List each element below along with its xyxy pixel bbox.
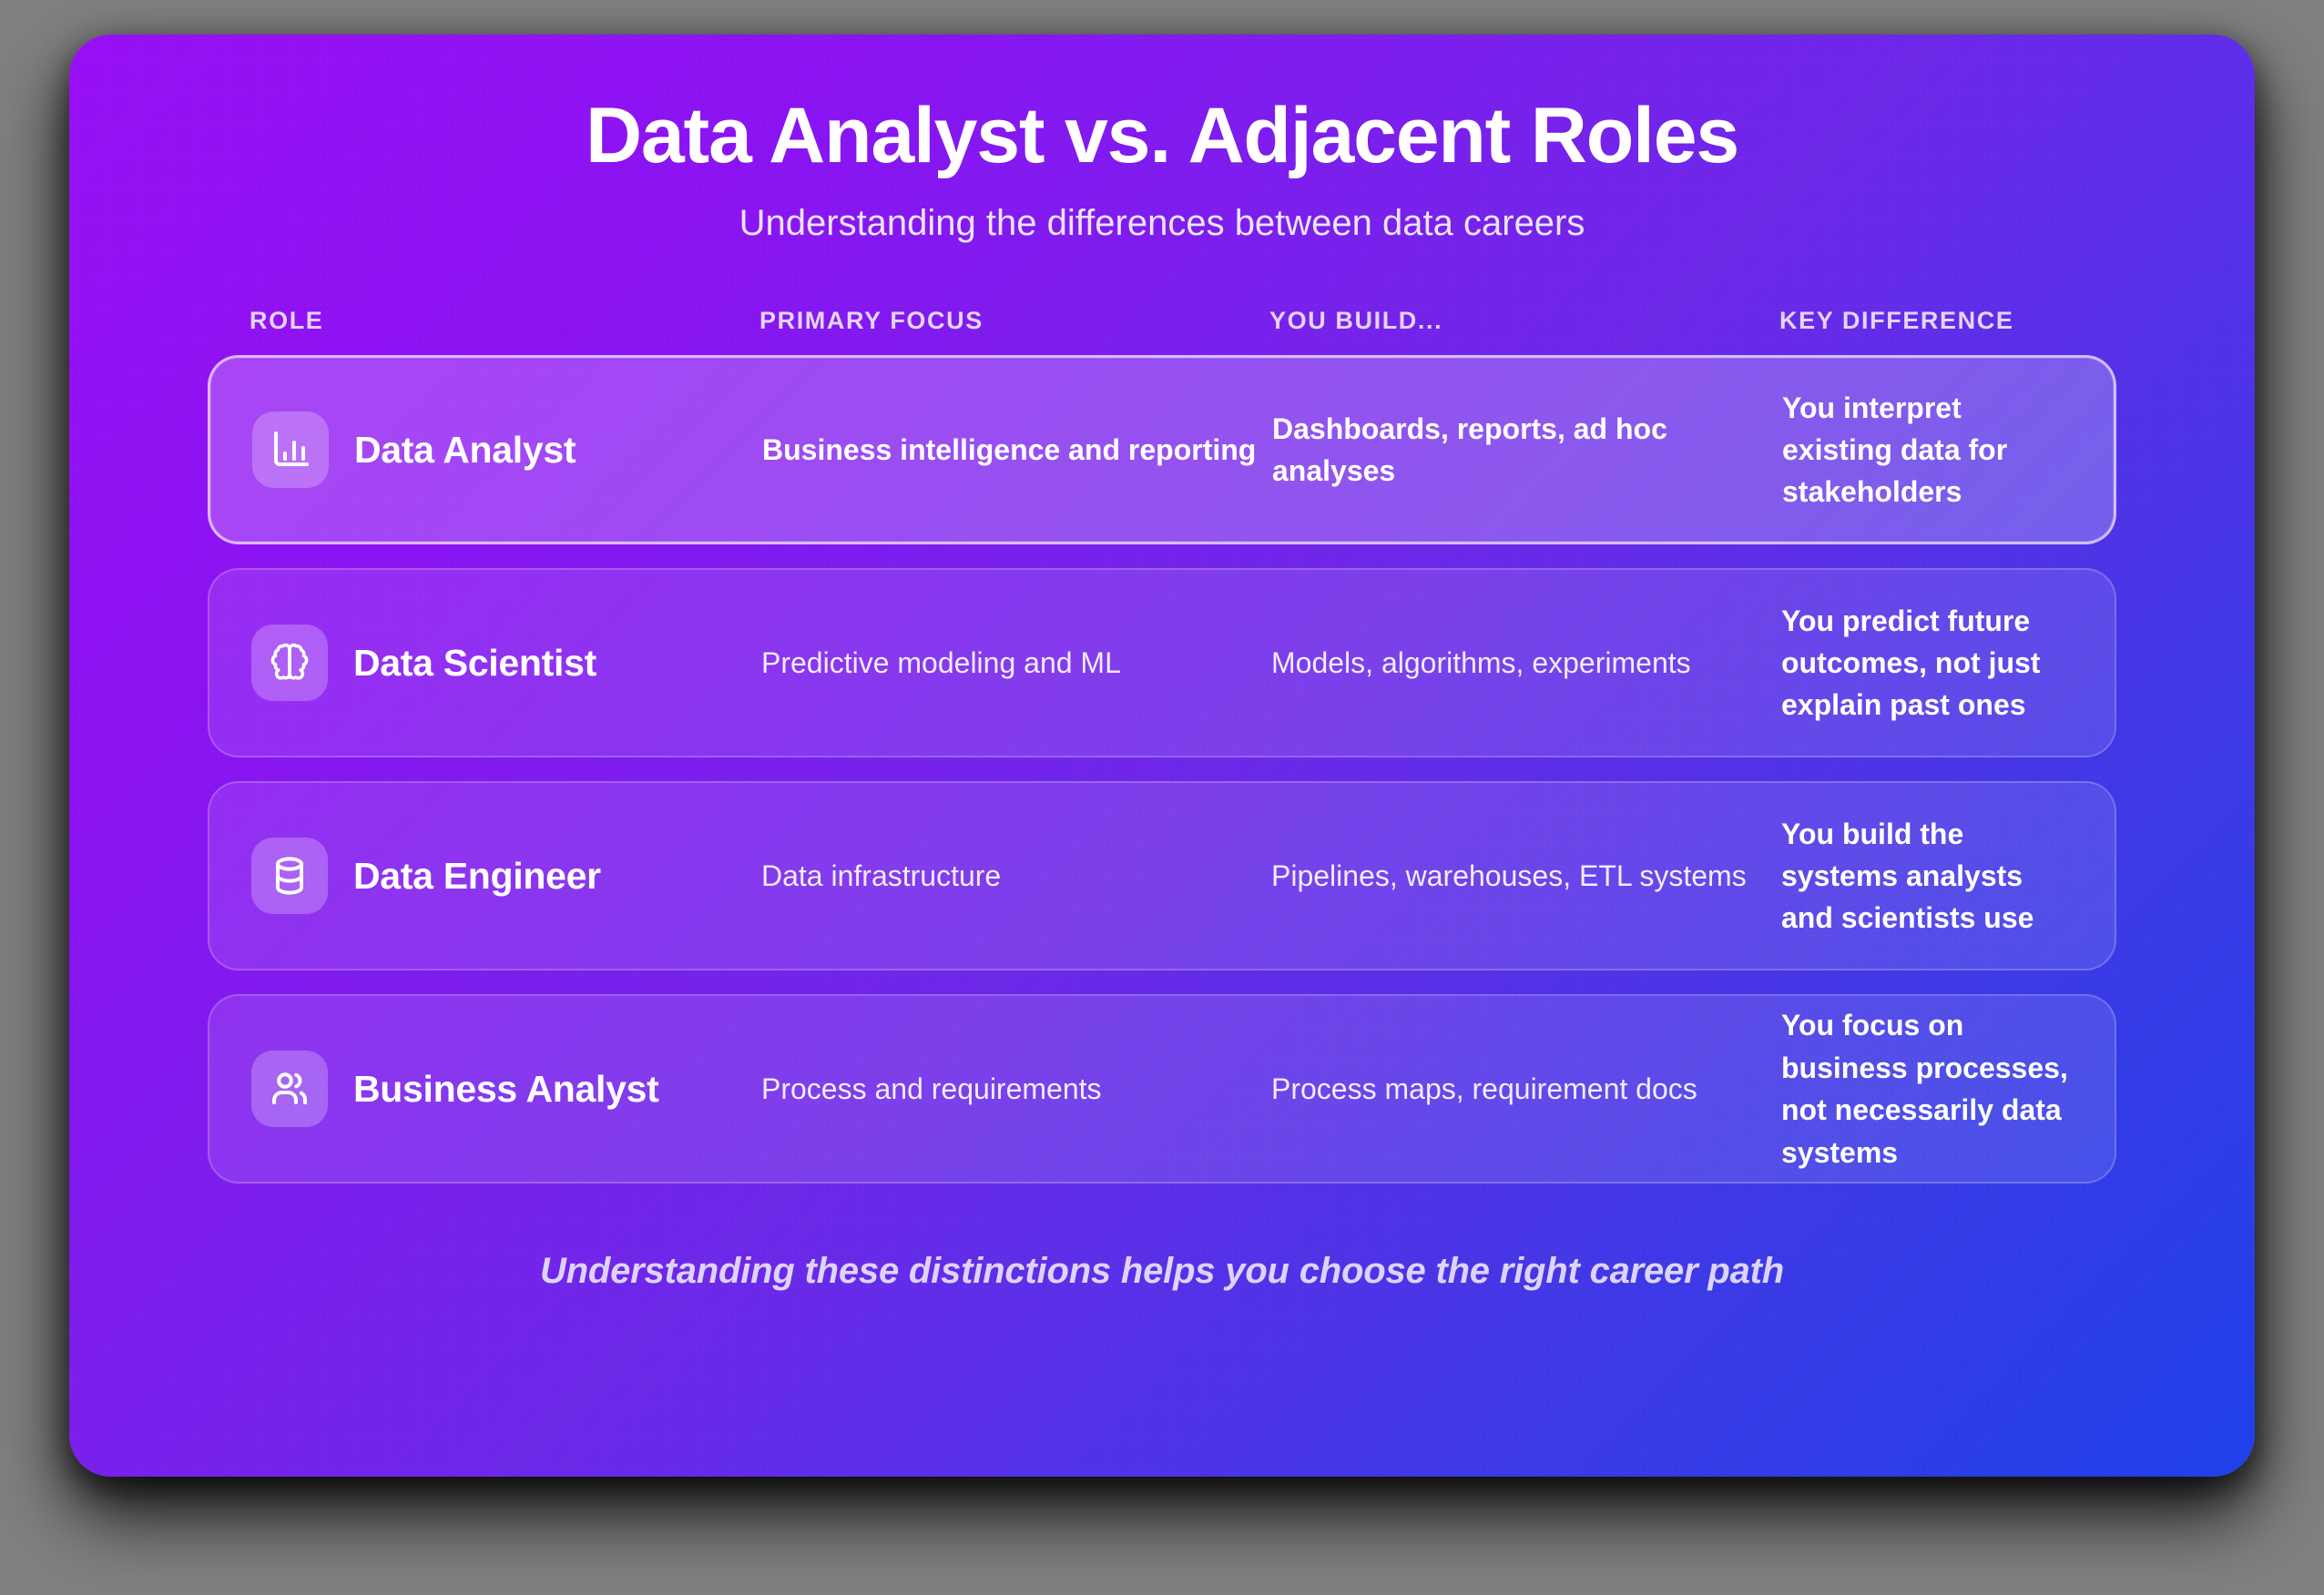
role-name: Data Analyst	[354, 428, 576, 472]
table-body: Data Analyst Business intelligence and r…	[208, 355, 2116, 1184]
database-icon	[251, 838, 328, 914]
page-title: Data Analyst vs. Adjacent Roles	[208, 95, 2116, 178]
bar-chart-icon	[252, 411, 329, 488]
comparison-card: Data Analyst vs. Adjacent Roles Understa…	[69, 35, 2255, 1477]
role-build: Models, algorithms, experiments	[1271, 642, 1781, 684]
role-build: Dashboards, reports, ad hoc analyses	[1272, 408, 1782, 493]
role-difference: You build the systems analysts and scien…	[1781, 813, 2073, 940]
role-build: Pipelines, warehouses, ETL systems	[1271, 855, 1781, 897]
role-difference: You predict future outcomes, not just ex…	[1781, 600, 2073, 726]
users-icon	[251, 1051, 328, 1127]
role-focus: Business intelligence and reporting	[762, 429, 1272, 471]
table-row[interactable]: Data Engineer Data infrastructure Pipeli…	[208, 781, 2116, 970]
role-difference: You focus on business processes, not nec…	[1781, 1004, 2073, 1173]
page-subtitle: Understanding the differences between da…	[208, 201, 2116, 245]
role-cell: Business Analyst	[251, 1051, 761, 1127]
role-focus: Predictive modeling and ML	[761, 642, 1271, 684]
role-cell: Data Analyst	[252, 411, 762, 488]
footer-note: Understanding these distinctions helps y…	[208, 1251, 2116, 1292]
role-name: Data Engineer	[353, 854, 601, 898]
page-stage: Data Analyst vs. Adjacent Roles Understa…	[0, 0, 2324, 1595]
table-header-row: ROLE PRIMARY FOCUS YOU BUILD... KEY DIFF…	[208, 307, 2116, 335]
table-row[interactable]: Data Scientist Predictive modeling and M…	[208, 568, 2116, 757]
role-difference: You interpret existing data for stakehol…	[1782, 387, 2072, 513]
brain-icon	[251, 625, 328, 701]
role-build: Process maps, requirement docs	[1271, 1068, 1781, 1110]
role-name: Data Scientist	[353, 641, 596, 685]
column-header-difference: KEY DIFFERENCE	[1779, 307, 2074, 335]
table-row[interactable]: Data Analyst Business intelligence and r…	[208, 355, 2116, 544]
table-row[interactable]: Business Analyst Process and requirement…	[208, 994, 2116, 1184]
role-focus: Data infrastructure	[761, 855, 1271, 897]
role-name: Business Analyst	[353, 1067, 658, 1111]
role-cell: Data Engineer	[251, 838, 761, 914]
role-cell: Data Scientist	[251, 625, 761, 701]
column-header-role: ROLE	[250, 307, 759, 335]
column-header-focus: PRIMARY FOCUS	[759, 307, 1269, 335]
role-focus: Process and requirements	[761, 1068, 1271, 1110]
column-header-build: YOU BUILD...	[1269, 307, 1779, 335]
